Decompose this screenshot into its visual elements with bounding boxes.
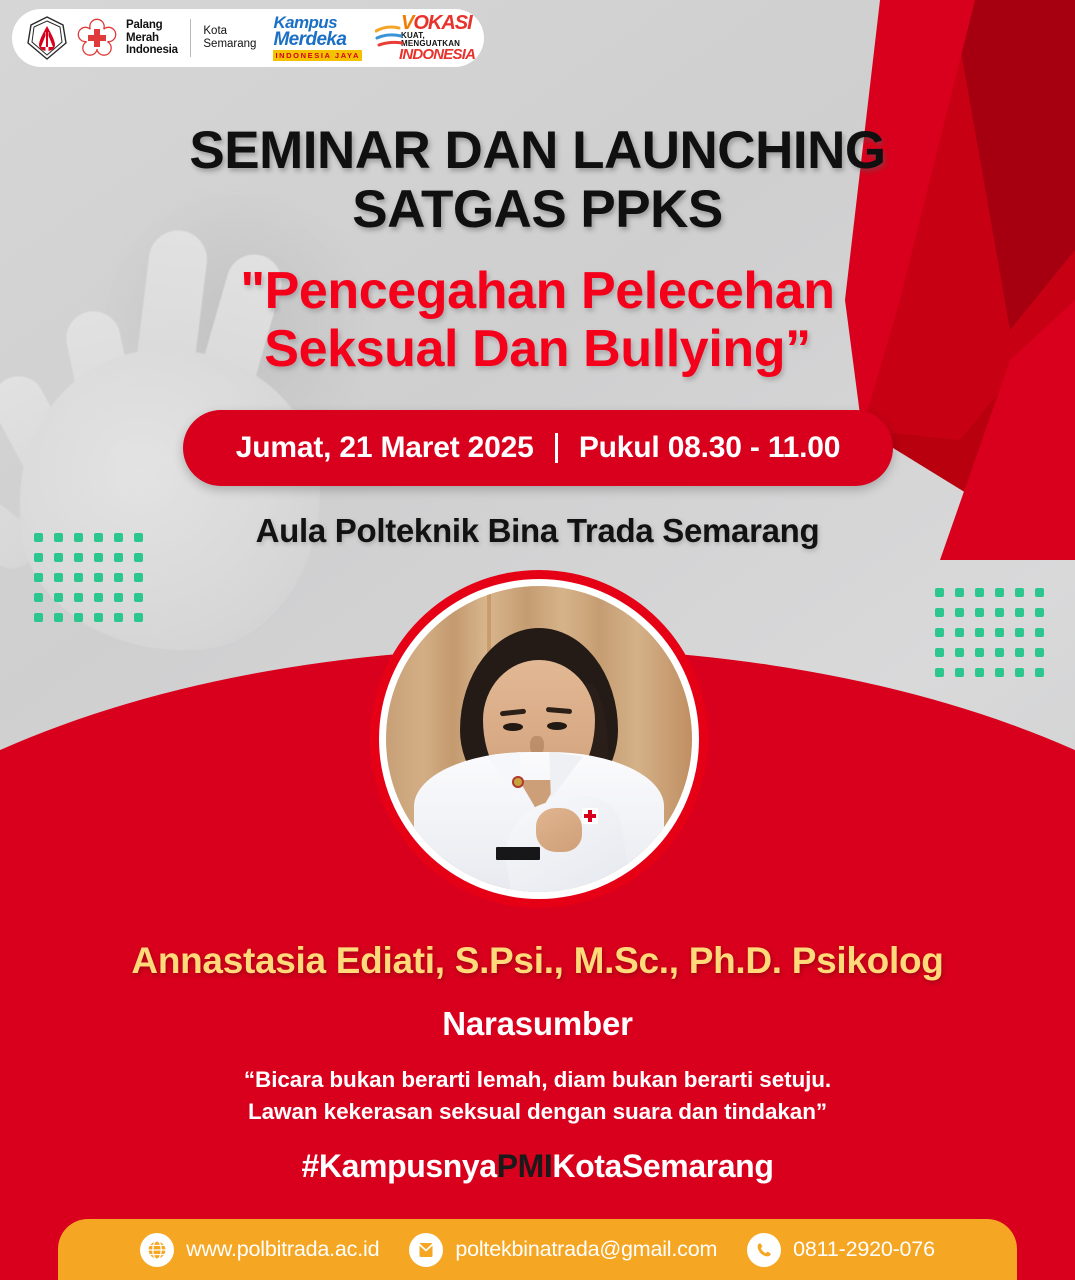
website-text: www.polbitrada.ac.id — [186, 1237, 379, 1262]
vokasi-line3: INDONESIA — [399, 48, 481, 62]
date-time-text: Jumat, 21 Maret 2025 Pukul 08.30 - 11.00 — [236, 431, 841, 465]
speaker-photo — [386, 586, 692, 892]
event-subtitle-line2: Seksual Dan Bullying” — [0, 320, 1075, 378]
event-title-line1: SEMINAR DAN LAUNCHING — [0, 122, 1075, 181]
hashtag-part1: #Kampusnya — [302, 1148, 497, 1184]
date-time-pill: Jumat, 21 Maret 2025 Pukul 08.30 - 11.00 — [183, 410, 893, 486]
kampus-merdeka-tagline: INDONESIA JAYA — [273, 50, 362, 61]
event-title: SEMINAR DAN LAUNCHING SATGAS PPKS — [0, 122, 1075, 240]
campaign-quote-line1: “Bicara bukan berarti lemah, diam bukan … — [0, 1064, 1075, 1096]
phone-icon — [747, 1233, 781, 1267]
phone-text: 0811-2920-076 — [793, 1237, 935, 1262]
vokasi-line1: VOKASI — [401, 15, 481, 32]
campaign-quote: “Bicara bukan berarti lemah, diam bukan … — [0, 1064, 1075, 1128]
dot-grid-right-decoration — [935, 588, 1044, 677]
kampus-merdeka-logo: Kampus Merdeka INDONESIA JAYA — [273, 15, 362, 61]
envelope-icon — [409, 1233, 443, 1267]
separator-bar — [555, 433, 558, 463]
event-title-line2: SATGAS PPKS — [0, 181, 1075, 240]
event-date: Jumat, 21 Maret 2025 — [236, 431, 534, 464]
event-venue: Aula Polteknik Bina Trada Semarang — [0, 512, 1075, 550]
hashtag-part3: KotaSemarang — [552, 1148, 773, 1184]
poltekkes-crest-icon — [26, 16, 68, 60]
pmi-name-label: Palang Merah Indonesia — [126, 19, 178, 58]
speaker-portrait-inner-ring — [379, 579, 699, 899]
campaign-quote-line2: Lawan kekerasan seksual dengan suara dan… — [0, 1096, 1075, 1128]
speaker-role: Narasumber — [0, 1005, 1075, 1043]
email-text: poltekbinatrada@gmail.com — [455, 1237, 717, 1262]
vokasi-logo: VOKASI KUAT, MENGUATKAN INDONESIA — [377, 15, 481, 61]
kampus-merdeka-line2: Merdeka — [273, 31, 362, 49]
contact-footer-bar: www.polbitrada.ac.id poltekbinatrada@gma… — [58, 1219, 1017, 1280]
speaker-portrait-frame — [370, 570, 708, 908]
speaker-name: Annastasia Ediati, S.Psi., M.Sc., Ph.D. … — [0, 940, 1075, 982]
event-subtitle: "Pencegahan Pelecehan Seksual Dan Bullyi… — [0, 262, 1075, 378]
contact-email[interactable]: poltekbinatrada@gmail.com — [409, 1233, 717, 1267]
logo-bar: Palang Merah Indonesia Kota Semarang Kam… — [12, 9, 484, 67]
globe-icon — [140, 1233, 174, 1267]
contact-phone[interactable]: 0811-2920-076 — [747, 1233, 935, 1267]
poster-canvas: Palang Merah Indonesia Kota Semarang Kam… — [0, 0, 1075, 1280]
event-time: Pukul 08.30 - 11.00 — [579, 431, 840, 464]
vokasi-swoosh-icon — [375, 21, 409, 51]
logo-divider — [190, 19, 192, 57]
pmi-red-cross-icon — [77, 18, 117, 58]
hashtag: #KampusnyaPMIKotaSemarang — [0, 1148, 1075, 1185]
hashtag-part2: PMI — [497, 1148, 553, 1184]
pmi-city-label: Kota Semarang — [203, 25, 256, 51]
event-subtitle-line1: "Pencegahan Pelecehan — [0, 262, 1075, 320]
contact-website[interactable]: www.polbitrada.ac.id — [140, 1233, 379, 1267]
